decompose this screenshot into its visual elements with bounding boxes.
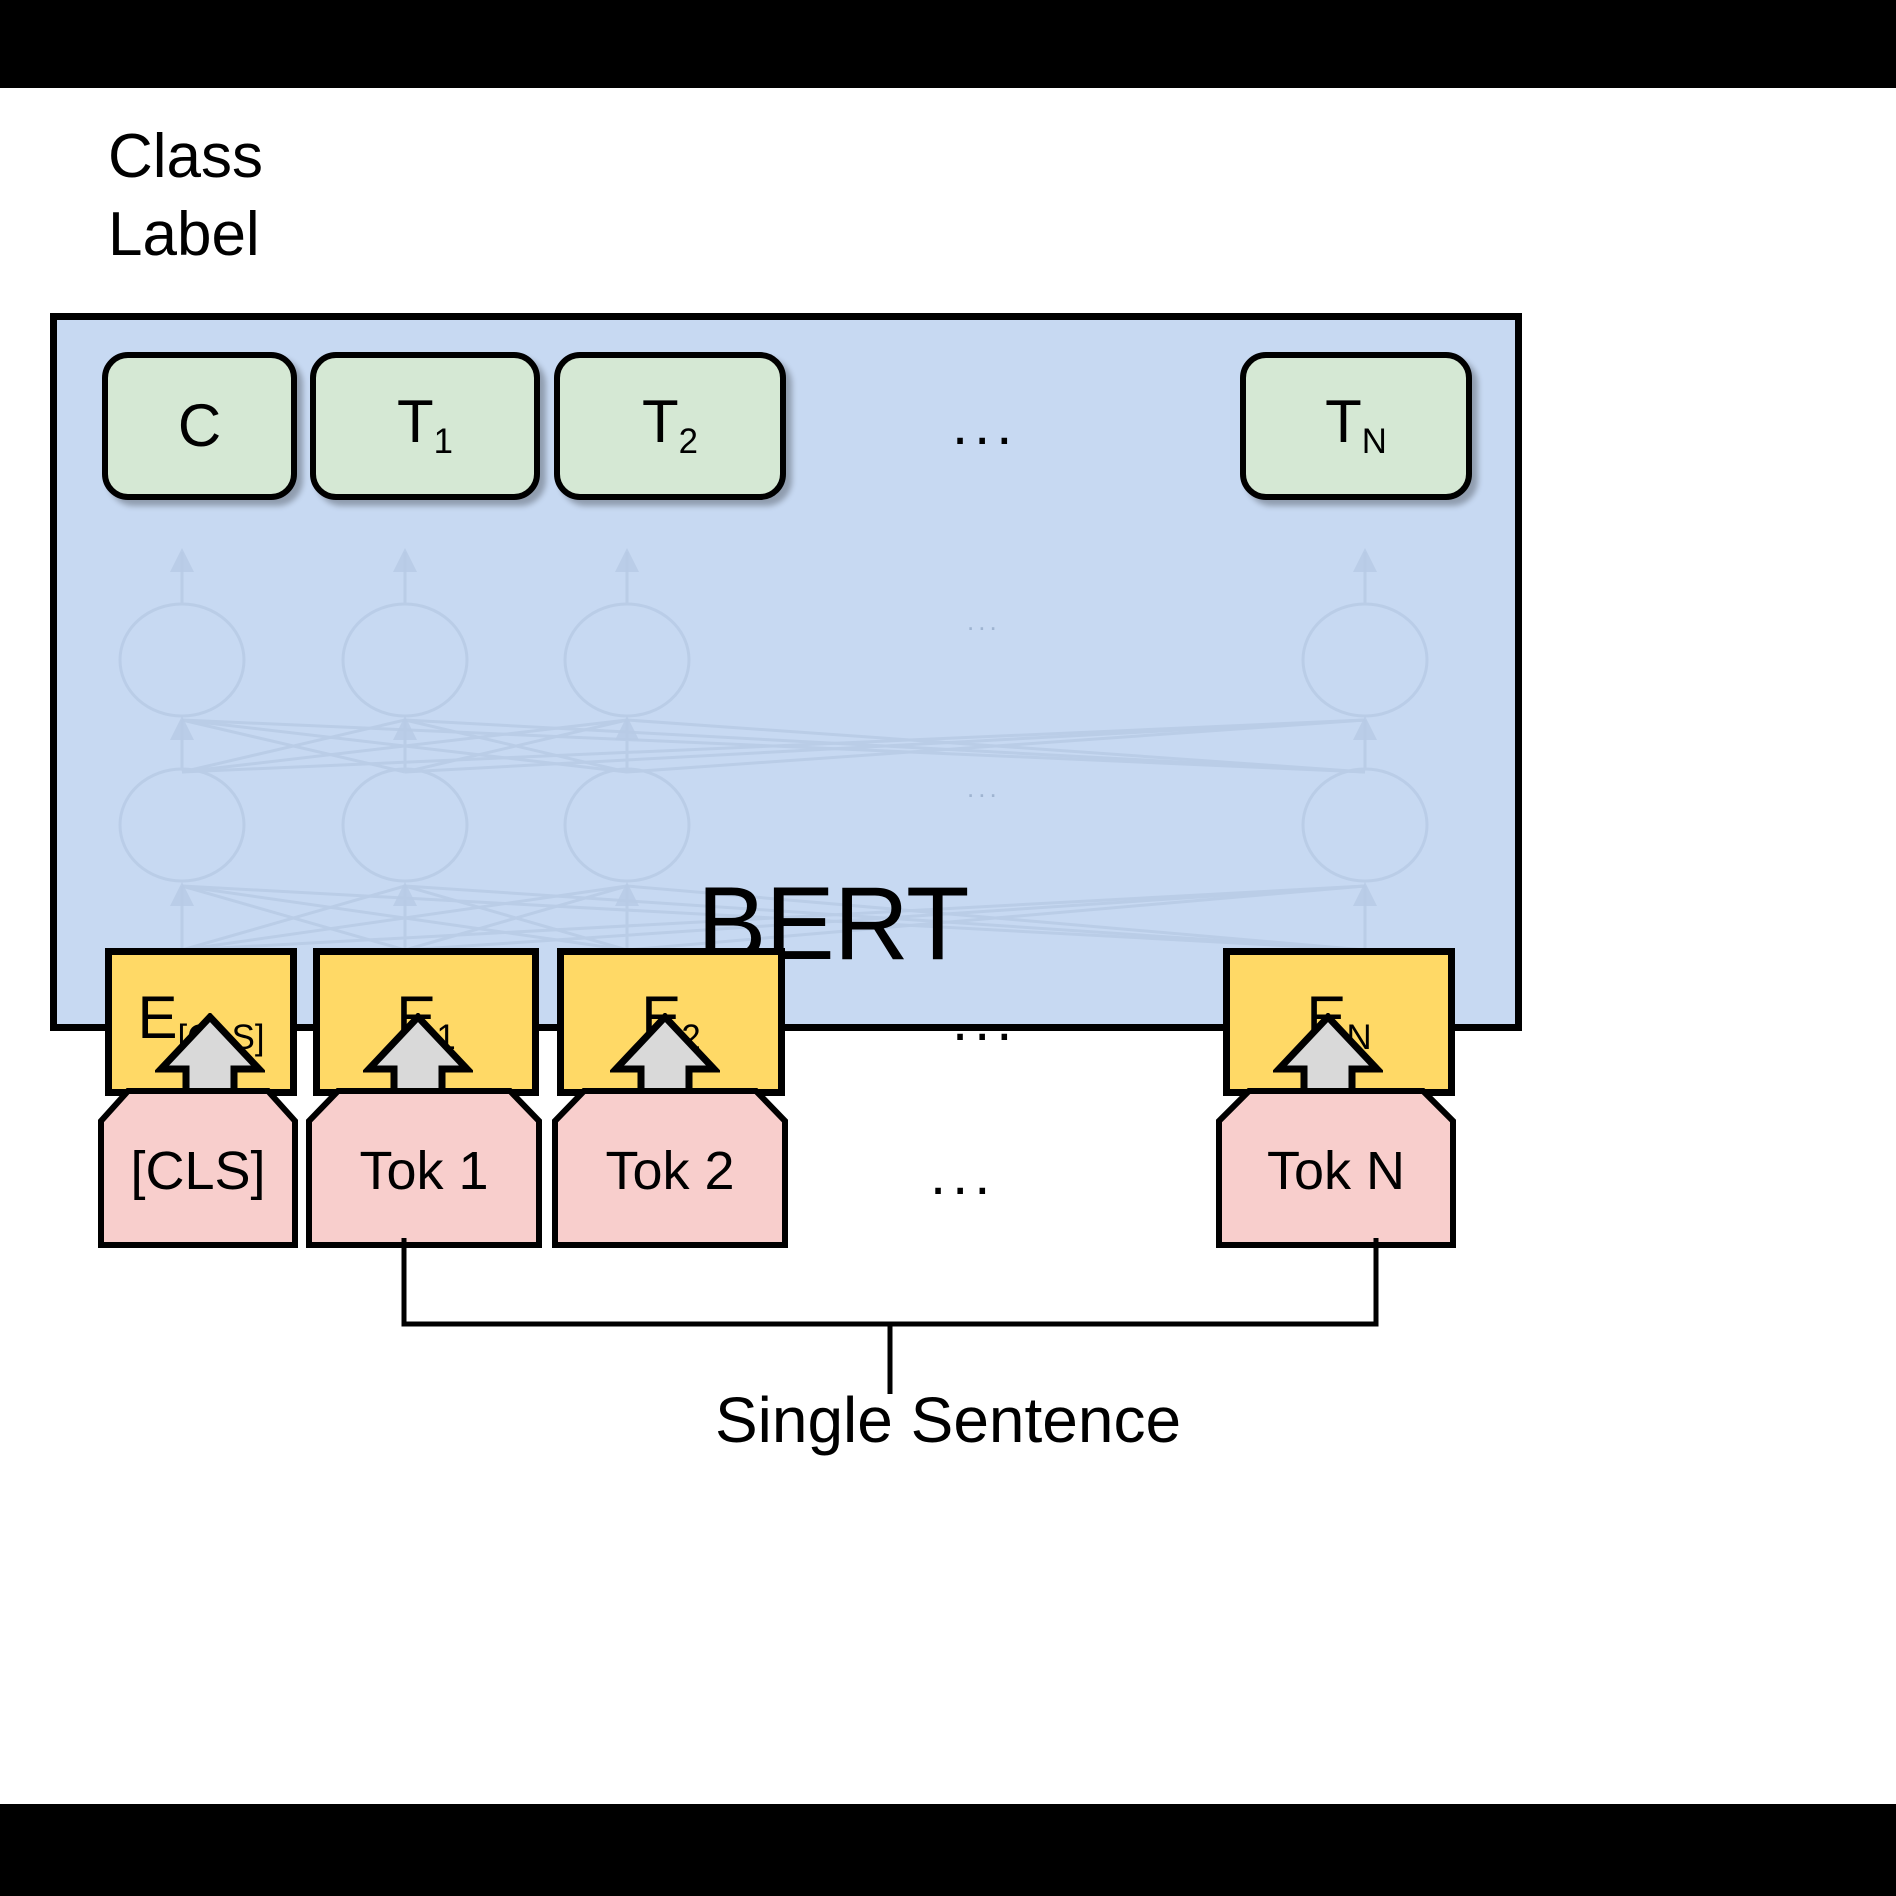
output-token-box-t1: T1 <box>310 352 540 500</box>
input-token-label-tokn: Tok N <box>1216 1140 1456 1202</box>
output-token-sub-t2: 2 <box>679 422 698 461</box>
network-ellipsis-lower: ... <box>967 775 1001 801</box>
class-label-text: Class Label <box>108 118 428 273</box>
output-token-label-c: C <box>178 396 221 456</box>
input-token-box-tokn: Tok N <box>1216 1088 1456 1248</box>
sentence-bracket <box>380 1236 1400 1396</box>
network-ellipsis-upper: ... <box>967 608 1001 634</box>
output-token-box-c: C <box>102 352 297 500</box>
output-row-ellipsis: ... <box>952 396 1018 454</box>
input-token-box-cls: [CLS] <box>98 1088 298 1248</box>
output-token-box-tn: TN <box>1240 352 1472 500</box>
input-token-box-tok2: Tok 2 <box>552 1088 788 1248</box>
output-token-sub-tn: N <box>1362 422 1387 461</box>
input-token-label-tok1: Tok 1 <box>306 1140 542 1202</box>
figure-canvas: Class Label <box>0 88 1896 1804</box>
input-token-box-tok1: Tok 1 <box>306 1088 542 1248</box>
bert-model-box: C T1 T2 TN ... ... ... BERT E[CLS] <box>50 313 1522 1031</box>
input-token-label-cls: [CLS] <box>98 1140 298 1202</box>
figure-root: Class Label <box>0 0 1896 1896</box>
embedding-row-ellipsis: ... <box>952 992 1018 1050</box>
sentence-caption: Single Sentence <box>0 1383 1896 1457</box>
output-token-sub-t1: 1 <box>434 422 453 461</box>
input-row-ellipsis: ... <box>930 1146 996 1204</box>
output-token-box-t2: T2 <box>554 352 786 500</box>
input-token-label-tok2: Tok 2 <box>552 1140 788 1202</box>
